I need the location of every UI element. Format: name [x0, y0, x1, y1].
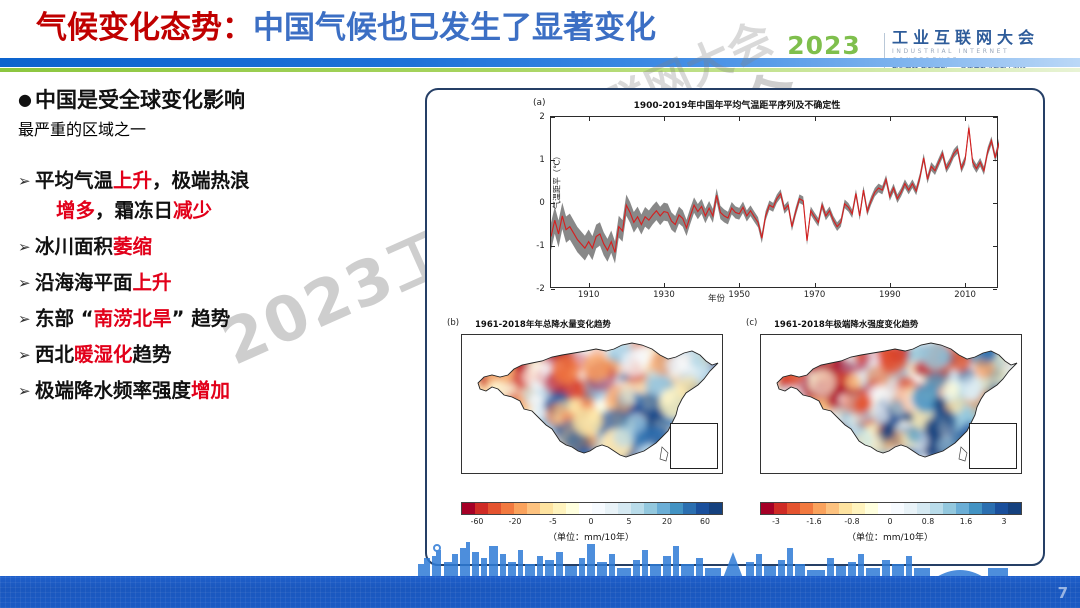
map-panel-b: (b) 1961-2018年年总降水量变化趋势 40N20N90E120E -6…	[441, 318, 741, 564]
panel-b-colorbar-swatch-6	[540, 503, 553, 514]
bullet-segment: ，极端热浪	[152, 169, 250, 192]
panel-a-xtick-mark	[890, 283, 891, 287]
bullet-segment: 上升	[133, 271, 172, 294]
bullet-segment: 西北	[35, 343, 74, 366]
panel-b-colorbar-swatch-4	[514, 503, 527, 514]
panel-b-colorbar-swatch-13	[631, 503, 644, 514]
panel-b-colorbar-labels: -60-20-5052060	[461, 517, 723, 529]
bullet-arrow-icon: ➢	[18, 166, 35, 196]
panel-b-colorbar-swatch-17	[683, 503, 696, 514]
panel-c-colorbar-swatch-18	[995, 503, 1008, 514]
bullet-segment: 萎缩	[113, 235, 152, 258]
bullet-segment: 减少	[173, 199, 212, 222]
bullet-segment: ，霜冻日	[95, 199, 173, 222]
bullet-item-text: 沿海海平面上升	[35, 268, 172, 298]
panel-c-colorbar-swatch-1	[774, 503, 787, 514]
panel-a-ytick-mark	[551, 289, 555, 290]
bullet-item-5: ➢西北暖湿化趋势	[18, 340, 418, 370]
panel-b-colorbar-swatch-9	[579, 503, 592, 514]
panel-c-map-area: 40N20N90E120E	[760, 334, 1022, 474]
bullet-item-text: 冰川面积萎缩	[35, 232, 152, 262]
bullet-segment: 上升	[113, 169, 152, 192]
bullet-level1-line1: 中国是受全球变化影响	[35, 84, 245, 116]
bullet-item-text: 西北暖湿化趋势	[35, 340, 172, 370]
panel-b-colorbar-swatch-12	[618, 503, 631, 514]
panel-b-tag: (b)	[447, 318, 459, 328]
panel-b-colorbar-swatch-2	[488, 503, 501, 514]
panel-a-ytick-mark	[993, 246, 997, 247]
panel-a-ytick-label: -1	[536, 241, 544, 251]
panel-b-colorbar-swatch-7	[553, 503, 566, 514]
bullet-item-4: ➢东部 “南涝北旱” 趋势	[18, 304, 418, 334]
panel-c-colorbar-swatch-0	[761, 503, 774, 514]
panel-b-colorbar-swatch-0	[462, 503, 475, 514]
panel-c-colorbar-label: 0.8	[922, 517, 934, 526]
bullet-segment: 南涝北旱	[94, 307, 172, 330]
panel-c-colorbar-swatch-8	[865, 503, 878, 514]
panel-b-colorbar-swatch-1	[475, 503, 488, 514]
bullet-sublist: ➢平均气温上升，极端热浪增多，霜冻日减少➢冰川面积萎缩➢沿海海平面上升➢东部 “…	[18, 166, 418, 406]
panel-c-colorbar-label: 1.6	[960, 517, 972, 526]
panel-a-xtick-mark	[965, 117, 966, 121]
panel-c-colorbar-swatch-11	[904, 503, 917, 514]
panel-a-ytick-mark	[551, 246, 555, 247]
bullet-level1: ● 中国是受全球变化影响	[18, 84, 418, 116]
panel-b-colorbar-swatch-10	[592, 503, 605, 514]
panel-a-xtick-mark	[589, 117, 590, 121]
panel-b-colorbar-swatch-5	[527, 503, 540, 514]
bullet-level1-line2: 最严重的区域之一	[18, 116, 418, 140]
bullet-segment: 东部 “	[35, 307, 94, 330]
panel-b-inset-map	[670, 423, 718, 469]
slide-header: 气候变化态势：中国气候也已发生了显著变化 2023 中国·苏州 8月14日-16…	[0, 0, 1080, 56]
bullet-item-text-cont: 增多，霜冻日减少	[56, 196, 250, 226]
panel-b-colorbar-label: 20	[662, 517, 672, 526]
panel-a-xtick-mark	[815, 117, 816, 121]
panel-a-title: 1900-2019年中国年平均气温距平序列及不确定性	[435, 98, 1039, 111]
bullet-segment: 增加	[191, 379, 230, 402]
panel-b-colorbar-swatch-18	[696, 503, 709, 514]
panel-a-ytick-mark	[993, 160, 997, 161]
panel-c-colorbar-swatch-13	[930, 503, 943, 514]
panel-b-colorbar-swatch-15	[657, 503, 670, 514]
map-panel-c: (c) 1961-2018年极端降水强度变化趋势 40N20N90E120E -…	[740, 318, 1040, 564]
panel-c-colorbar	[760, 502, 1022, 515]
panel-b-map-area: 40N20N90E120E	[461, 334, 723, 474]
panel-c-colorbar-swatch-9	[878, 503, 891, 514]
panel-b-colorbar-swatch-8	[566, 503, 579, 514]
page-number: 7	[1058, 584, 1068, 602]
logo-year: 2023	[766, 33, 882, 59]
panel-a-xtick-mark	[739, 117, 740, 121]
panel-c-colorbar-label: -3	[772, 517, 780, 526]
panel-b-colorbar-swatch-11	[605, 503, 618, 514]
bullet-segment: 增多	[56, 199, 95, 222]
bullet-arrow-icon: ➢	[18, 232, 35, 262]
bullet-list: ● 中国是受全球变化影响 最严重的区域之一 ➢平均气温上升，极端热浪增多，霜冻日…	[18, 84, 418, 412]
header-blue-bar	[0, 58, 1080, 67]
logo-conference-cn: 工业互联网大会	[892, 28, 1072, 47]
panel-b-colorbar	[461, 502, 723, 515]
panel-a-xtick-mark	[664, 283, 665, 287]
panel-b-title: 1961-2018年年总降水量变化趋势	[475, 318, 611, 330]
panel-a-ytick-label: 2	[539, 112, 544, 122]
panel-b-colorbar-swatch-16	[670, 503, 683, 514]
panel-b-colorbar-label: 5	[627, 517, 632, 526]
bullet-segment: ” 趋势	[172, 307, 231, 330]
panel-c-colorbar-label: -1.6	[806, 517, 821, 526]
panel-c-colorbar-labels: -3-1.6-0.800.81.63	[760, 517, 1022, 529]
panel-a-ytick-mark	[993, 203, 997, 204]
panel-a-ytick-mark	[551, 117, 555, 118]
bullet-dot-icon: ●	[18, 84, 32, 116]
footer-band	[0, 576, 1080, 608]
bullet-item-2: ➢冰川面积萎缩	[18, 232, 418, 262]
panel-c-colorbar-swatch-17	[982, 503, 995, 514]
bullet-segment: 极端降水频率强度	[35, 379, 191, 402]
header-green-bar	[0, 68, 1080, 72]
panel-a-line-chart	[551, 117, 999, 289]
bullet-item-6: ➢极端降水频率强度增加	[18, 376, 418, 406]
panel-c-title: 1961-2018年极端降水强度变化趋势	[774, 318, 918, 330]
slide-footer: 7	[0, 568, 1080, 608]
bullet-item-3: ➢沿海海平面上升	[18, 268, 418, 298]
panel-a-ytick-mark	[993, 117, 997, 118]
bullet-arrow-icon: ➢	[18, 340, 35, 370]
panel-b-colorbar-label: 0	[589, 517, 594, 526]
panel-c-colorbar-label: 0	[888, 517, 893, 526]
bullet-segment: 平均气温	[35, 169, 113, 192]
panel-c-colorbar-label: 3	[1002, 517, 1007, 526]
panel-c-colorbar-swatch-10	[891, 503, 904, 514]
page-title: 气候变化态势：中国气候也已发生了显著变化	[36, 4, 656, 52]
panel-a-ytick-mark	[551, 203, 555, 204]
panel-a-xtick-mark	[589, 283, 590, 287]
panel-b-colorbar-swatch-19	[709, 503, 722, 514]
chart-panel-a: (a) 1900-2019年中国年平均气温距平序列及不确定性 气温距平（℃） -…	[435, 94, 1039, 319]
bullet-item-1: ➢平均气温上升，极端热浪增多，霜冻日减少	[18, 166, 418, 226]
page-title-blue: 中国气候也已发生了显著变化	[253, 10, 656, 46]
city-skyline-icon	[0, 534, 1080, 582]
panel-c-colorbar-swatch-4	[813, 503, 826, 514]
panel-a-ytick-label: 0	[539, 198, 544, 208]
panel-a-ytick-mark	[551, 160, 555, 161]
panel-c-colorbar-swatch-2	[787, 503, 800, 514]
bullet-segment: 沿海海平面	[35, 271, 133, 294]
bullet-item-text: 极端降水频率强度增加	[35, 376, 230, 406]
panel-c-colorbar-swatch-16	[969, 503, 982, 514]
panel-b-colorbar-label: -60	[471, 517, 484, 526]
bullet-arrow-icon: ➢	[18, 376, 35, 406]
panel-a-xtick-mark	[739, 283, 740, 287]
panel-a-ytick-label: 1	[539, 155, 544, 165]
panel-b-colorbar-swatch-14	[644, 503, 657, 514]
panel-c-tag: (c)	[746, 318, 757, 328]
bullet-arrow-icon: ➢	[18, 268, 35, 298]
panel-c-colorbar-swatch-6	[839, 503, 852, 514]
bullet-segment: 暖湿化	[74, 343, 133, 366]
panel-b-colorbar-label: -20	[509, 517, 522, 526]
panel-c-colorbar-label: -0.8	[844, 517, 859, 526]
panel-a-ytick-mark	[993, 289, 997, 290]
bullet-arrow-icon: ➢	[18, 304, 35, 334]
panel-c-colorbar-swatch-3	[800, 503, 813, 514]
panel-a-xtick-mark	[890, 117, 891, 121]
panel-a-xtick-mark	[965, 283, 966, 287]
bullet-segment: 冰川面积	[35, 235, 113, 258]
panel-a-xtick-mark	[664, 117, 665, 121]
panel-c-colorbar-swatch-7	[852, 503, 865, 514]
panel-c-colorbar-swatch-12	[917, 503, 930, 514]
panel-a-plot-area: 气温距平（℃） -2-1012191019301950197019902010	[550, 116, 998, 288]
panel-c-colorbar-swatch-15	[956, 503, 969, 514]
panel-c-inset-map	[969, 423, 1017, 469]
slide-root: 气候变化态势：中国气候也已发生了显著变化 2023 中国·苏州 8月14日-16…	[0, 0, 1080, 608]
panel-b-colorbar-label: -5	[549, 517, 557, 526]
bullet-segment: 趋势	[133, 343, 172, 366]
panel-b-colorbar-label: 60	[700, 517, 710, 526]
panel-c-colorbar-swatch-14	[943, 503, 956, 514]
bullet-item-text: 东部 “南涝北旱” 趋势	[35, 304, 230, 334]
panel-b-colorbar-swatch-3	[501, 503, 514, 514]
bullet-item-text: 平均气温上升，极端热浪	[35, 166, 250, 196]
figure-panel-container: (a) 1900-2019年中国年平均气温距平序列及不确定性 气温距平（℃） -…	[425, 88, 1045, 566]
page-title-red: 气候变化态势：	[36, 10, 253, 46]
panel-c-colorbar-swatch-19	[1008, 503, 1021, 514]
panel-a-xtick-mark	[815, 283, 816, 287]
panel-c-colorbar-swatch-5	[826, 503, 839, 514]
panel-a-xlabel: 年份	[435, 292, 998, 304]
